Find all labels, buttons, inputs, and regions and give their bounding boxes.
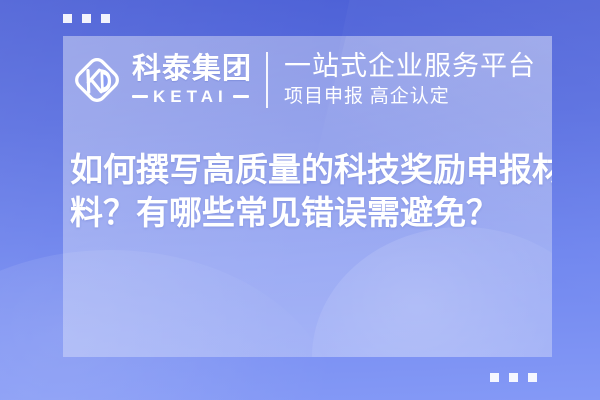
tagline-sub: 项目申报 高企认定 [284, 85, 536, 109]
wordmark-rule-right [233, 95, 249, 98]
decorative-squares-top-left [63, 14, 110, 23]
tagline-main: 一站式企业服务平台 [284, 51, 536, 81]
brand-divider [266, 52, 268, 108]
decorative-square [528, 373, 537, 382]
brand-wordmark: 科泰集团 KETAI [132, 55, 252, 105]
decorative-squares-bottom-right [490, 373, 537, 382]
decorative-square [82, 14, 91, 23]
panel-arc [312, 227, 552, 357]
brand-header: 科泰集团 KETAI 一站式企业服务平台 项目申报 高企认定 [63, 36, 552, 124]
brand-logo: 科泰集团 KETAI [70, 53, 252, 107]
tagline: 一站式企业服务平台 项目申报 高企认定 [284, 51, 536, 109]
wordmark-rule-left [132, 95, 148, 98]
ketai-kd-monogram-icon [70, 53, 124, 107]
poster-canvas: 科泰集团 KETAI 一站式企业服务平台 项目申报 高企认定 如何撰写高质量的科… [0, 0, 600, 400]
decorative-square [509, 373, 518, 382]
brand-name-en-row: KETAI [132, 88, 252, 105]
brand-name-en: KETAI [153, 88, 228, 105]
decorative-square [490, 373, 499, 382]
page-title: 如何撰写高质量的科技奖励申报材料？有哪些常见错误需避免？ [70, 149, 552, 235]
decorative-square [101, 14, 110, 23]
content-panel: 科泰集团 KETAI 一站式企业服务平台 项目申报 高企认定 如何撰写高质量的科… [63, 36, 552, 357]
brand-name-cn: 科泰集团 [132, 55, 252, 85]
decorative-square [63, 14, 72, 23]
